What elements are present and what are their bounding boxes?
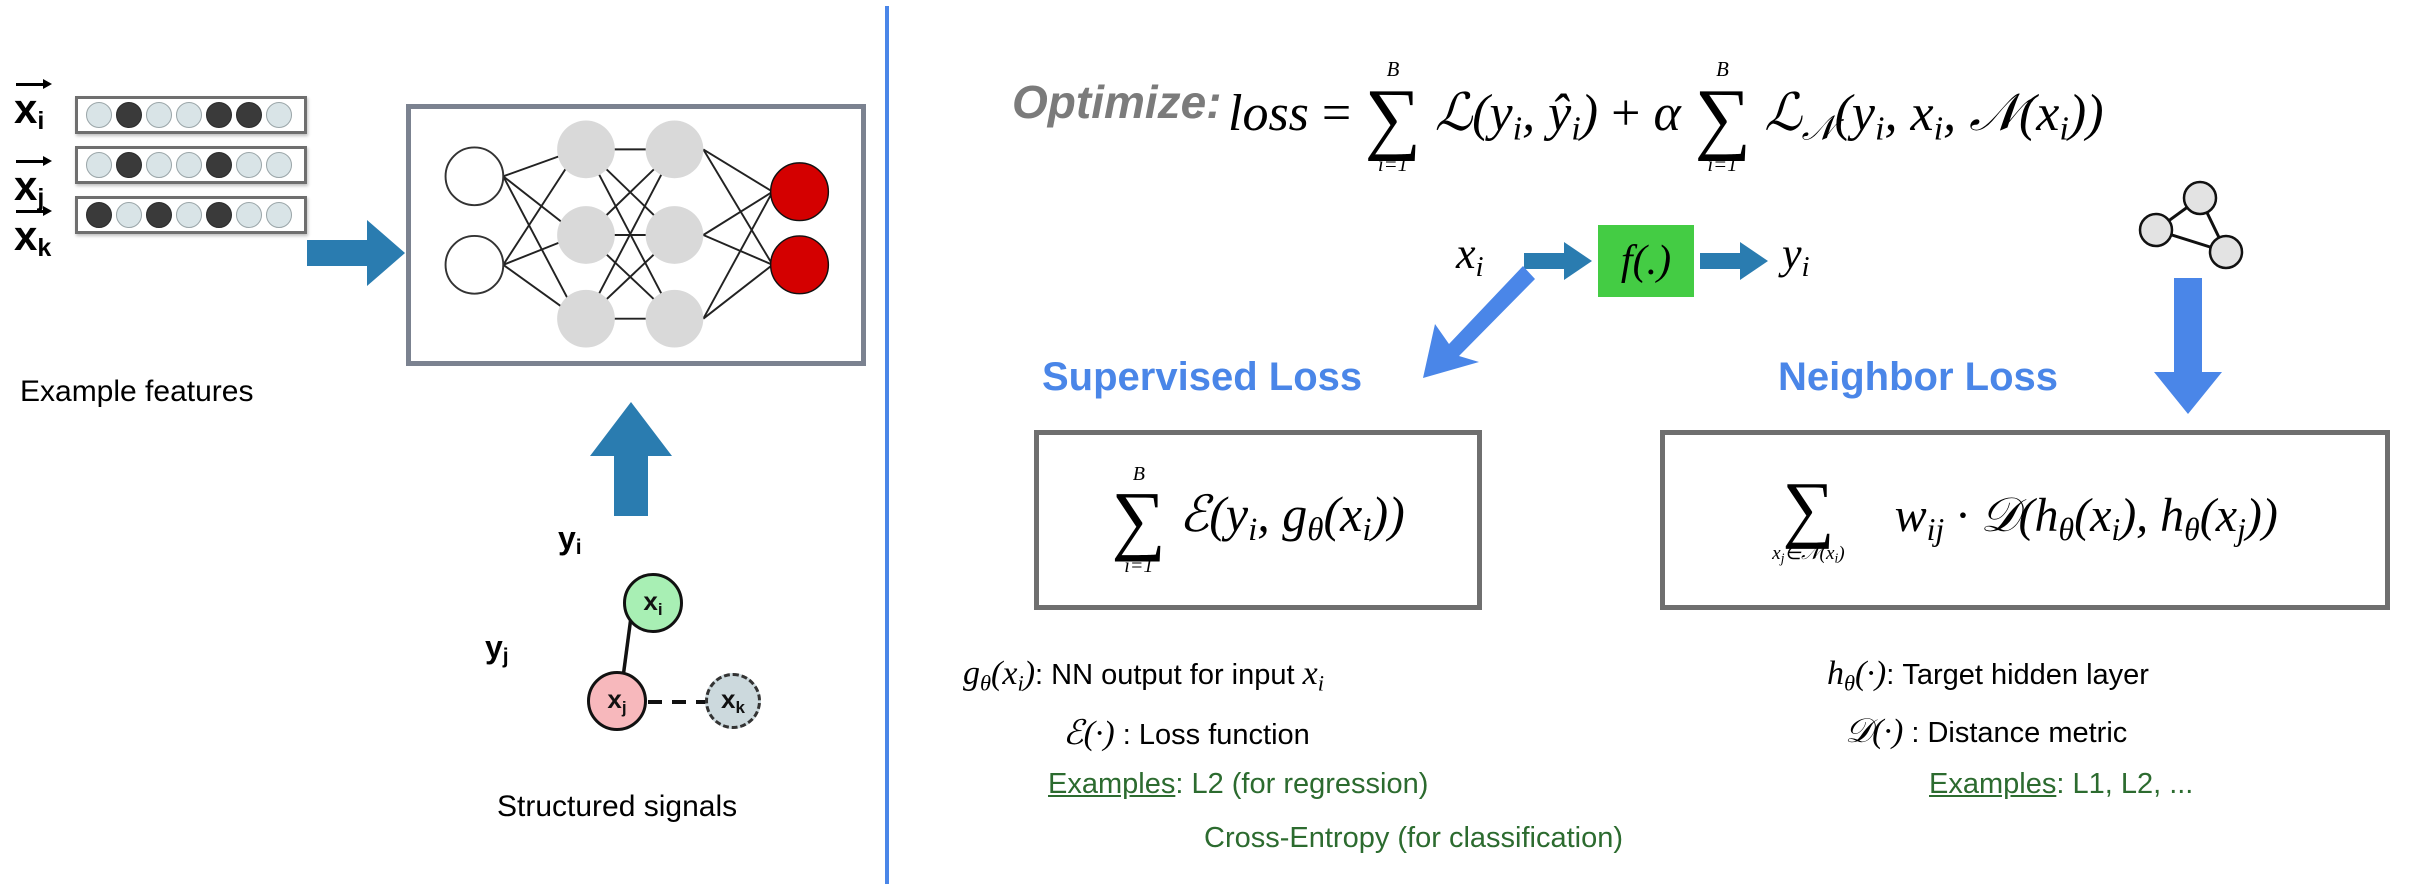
- node-label-base: x: [607, 684, 621, 714]
- vector-arrow-icon: [16, 78, 52, 88]
- example-features-caption: Example features: [20, 375, 253, 409]
- sigma-icon: ∑: [1694, 81, 1750, 155]
- graph-node-xj: xj: [587, 671, 647, 731]
- function-box-label: f(.): [1621, 237, 1671, 285]
- examples-separator: :: [2056, 768, 2072, 800]
- node-label-base: x: [721, 684, 735, 714]
- neighbor-graph-icon: [2128, 180, 2253, 285]
- vector-arrow-icon: [16, 205, 52, 215]
- network-graph-svg: [411, 109, 861, 361]
- legend-separator: :: [1886, 659, 1902, 691]
- examples-value: Cross-Entropy (for classification): [1204, 822, 1623, 854]
- feature-cell: [146, 152, 172, 178]
- feature-vector-label-xk: xk: [14, 205, 52, 261]
- neighbor-formula-body: wij · 𝒟(hθ(xi), hθ(xj)): [1895, 489, 2278, 542]
- supervised-formula: B ∑ i=1 ℰ(yi, gθ(xi)): [1111, 464, 1405, 575]
- main-loss-equation: loss = B ∑ i=1 ℒ(yi, ŷi) + α B ∑ i=1 ℒ𝒩(…: [1228, 60, 2104, 176]
- feature-cell: [86, 202, 112, 228]
- feature-vector-box-xi: [75, 96, 307, 134]
- node-label-base: x: [643, 586, 657, 616]
- sigma-icon: ∑: [1365, 81, 1421, 155]
- neighbor-examples-line-1: Examples: L1, L2, ...: [1929, 768, 2193, 801]
- equation-plus: +: [1611, 85, 1653, 142]
- legend-trailing-math: xi: [1303, 655, 1324, 692]
- legend-text: NN output for input: [1051, 659, 1302, 691]
- supervised-formula-body: ℰ(yi, gθ(xi)): [1179, 486, 1405, 542]
- pipeline-output-label: yi: [1782, 228, 1810, 284]
- vector-label-sub: i: [37, 107, 44, 135]
- network-output-node: [771, 163, 829, 221]
- arrow-down-to-neighbor-icon: [2148, 278, 2228, 418]
- feature-cell: [266, 152, 292, 178]
- legend-math-h-theta: hθ(·): [1827, 655, 1886, 692]
- equation-lhs: loss: [1228, 85, 1309, 142]
- supervised-legend-line-2: ℰ(·) : Loss function: [1063, 713, 1310, 753]
- supervised-legend-line-1: gθ(xi): NN output for input xi: [963, 655, 1324, 696]
- neighbor-loss-title: Neighbor Loss: [1778, 355, 2058, 400]
- legend-math-E: ℰ(·): [1063, 715, 1115, 752]
- network-input-node: [446, 236, 504, 294]
- legend-math-g-theta: gθ(xi): [963, 655, 1035, 692]
- arrow-right-from-fbox-icon: [1700, 240, 1770, 282]
- equation-term-1: ℒ(yi, ŷi): [1435, 85, 1598, 142]
- supervised-examples-line-2: Cross-Entropy (for classification): [1204, 822, 1623, 855]
- vector-label-base: x: [14, 85, 37, 132]
- network-hidden-node: [646, 290, 704, 348]
- feature-cell: [266, 202, 292, 228]
- supervised-loss-title: Supervised Loss: [1042, 355, 1362, 400]
- examples-separator: :: [1175, 768, 1191, 800]
- sigma-icon: ∑: [1112, 484, 1166, 555]
- feature-vector-box-xk: [75, 196, 307, 234]
- supervised-loss-formula-box: B ∑ i=1 ℰ(yi, gθ(xi)): [1034, 430, 1482, 610]
- supervised-examples-line-1: Examples: L2 (for regression): [1048, 768, 1428, 801]
- network-input-node: [446, 147, 504, 205]
- summation-2: B ∑ i=1: [1694, 60, 1751, 176]
- node-label-sub: j: [622, 698, 627, 717]
- arrow-up-to-network-icon: [586, 398, 676, 520]
- pipeline-output-base: y: [1782, 229, 1802, 278]
- vector-label-base: x: [14, 162, 37, 209]
- network-hidden-node: [557, 206, 615, 264]
- vector-arrow-icon: [16, 155, 52, 165]
- network-hidden-node: [557, 121, 615, 179]
- network-output-node: [771, 236, 829, 294]
- feature-cell: [236, 152, 262, 178]
- neighbor-legend-line-1: hθ(·): Target hidden layer: [1827, 655, 2149, 696]
- node-label-sub: i: [658, 600, 663, 619]
- structured-signals-caption: Structured signals: [497, 790, 737, 824]
- feature-cell: [266, 102, 292, 128]
- feature-cell: [86, 152, 112, 178]
- examples-label: Examples: [1929, 768, 2056, 800]
- optimize-label: Optimize:: [1012, 75, 1222, 129]
- arrow-right-to-network-icon: [305, 208, 410, 298]
- graph-node-xi: xi: [623, 573, 683, 633]
- network-hidden-node: [557, 290, 615, 348]
- pipeline-output-sub: i: [1802, 251, 1810, 283]
- equation-alpha: α: [1653, 85, 1680, 142]
- feature-cell: [176, 102, 202, 128]
- structured-signals-graph-svg: [500, 520, 830, 770]
- neighbor-loss-formula-box: ∑ xj∈𝒩(xi) wij · 𝒟(hθ(xi), hθ(xj)): [1660, 430, 2390, 610]
- summation-supervised: B ∑ i=1: [1111, 464, 1166, 575]
- feature-cell: [206, 152, 232, 178]
- legend-text: Loss function: [1139, 719, 1310, 751]
- feature-cell: [116, 102, 142, 128]
- examples-label: Examples: [1048, 768, 1175, 800]
- feature-cell: [176, 202, 202, 228]
- feature-vector-label-xj: xj: [14, 155, 52, 211]
- feature-vector-box-xj: [75, 146, 307, 184]
- feature-cell: [236, 102, 262, 128]
- panel-divider: [885, 6, 889, 884]
- feature-cell: [236, 202, 262, 228]
- feature-cell: [86, 102, 112, 128]
- summation-1: B ∑ i=1: [1364, 60, 1421, 176]
- legend-math-D: 𝒟(·): [1845, 713, 1903, 750]
- network-hidden-node: [646, 121, 704, 179]
- equation-equals: =: [1322, 85, 1364, 142]
- feature-cell: [116, 152, 142, 178]
- summation-neighbor: ∑ xj∈𝒩(xi): [1772, 475, 1844, 564]
- legend-separator: :: [1903, 717, 1927, 749]
- legend-text: Distance metric: [1927, 717, 2127, 749]
- feature-cell: [116, 202, 142, 228]
- arrow-diagonal-to-supervised-icon: [1405, 262, 1535, 382]
- network-hidden-node: [646, 206, 704, 264]
- slide-canvas: xi xj xk Example features: [0, 0, 2412, 890]
- vector-label-base: x: [14, 212, 37, 259]
- graph-node-xk: xk: [705, 673, 761, 729]
- examples-value: L2 (for regression): [1191, 768, 1428, 800]
- node-label-sub: k: [736, 698, 745, 717]
- function-box: f(.): [1598, 225, 1694, 297]
- sigma-icon: ∑: [1782, 475, 1834, 543]
- feature-vector-label-xi: xi: [14, 78, 52, 134]
- feature-cell: [206, 102, 232, 128]
- feature-cell: [206, 202, 232, 228]
- feature-cell: [146, 202, 172, 228]
- legend-separator: :: [1035, 659, 1051, 691]
- examples-value: L1, L2, ...: [2072, 768, 2193, 800]
- feature-cell: [146, 102, 172, 128]
- legend-text: Target hidden layer: [1902, 659, 2149, 691]
- neighbor-formula: ∑ xj∈𝒩(xi) wij · 𝒟(hθ(xi), hθ(xj)): [1772, 475, 2278, 564]
- vector-label-sub: k: [37, 234, 51, 262]
- neural-network-diagram: [406, 104, 866, 366]
- equation-term-2: ℒ𝒩(yi, xi, 𝒩(xi)): [1764, 85, 2103, 142]
- legend-separator: :: [1115, 719, 1139, 751]
- feature-cell: [176, 152, 202, 178]
- neighbor-legend-line-2: 𝒟(·) : Distance metric: [1845, 713, 2127, 751]
